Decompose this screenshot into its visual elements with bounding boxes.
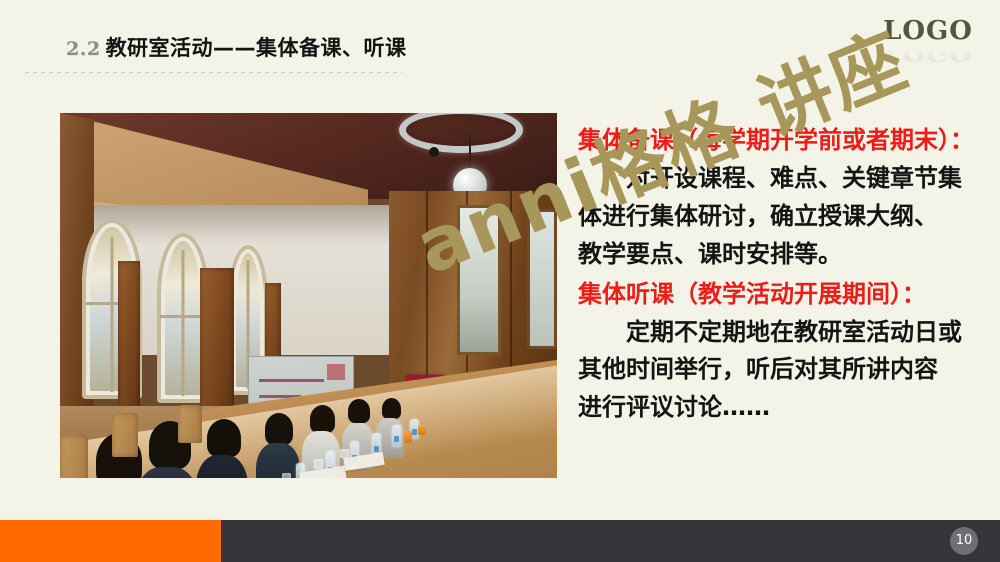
snack-item bbox=[418, 425, 426, 435]
heading-collective-lesson-prep: 集体备课（每学期开学前或者期末）： bbox=[578, 122, 988, 160]
snack-item bbox=[404, 431, 412, 443]
wood-door bbox=[200, 268, 234, 428]
person-hair bbox=[265, 413, 293, 445]
person-body bbox=[196, 455, 248, 478]
section-title-text: 教研室活动——集体备课、听课 bbox=[106, 36, 407, 60]
meeting-room-photo bbox=[60, 113, 557, 478]
title-divider bbox=[25, 72, 402, 73]
drinking-glass bbox=[314, 459, 323, 469]
attendee bbox=[196, 421, 248, 478]
section-number: 2.2 bbox=[66, 38, 101, 60]
page-number-badge: 10 bbox=[950, 527, 978, 555]
person-body bbox=[256, 443, 300, 478]
body-line: 进行评议讨论…… bbox=[578, 389, 988, 427]
person-body bbox=[134, 467, 200, 478]
person-hair bbox=[207, 419, 241, 457]
chair bbox=[60, 435, 88, 478]
attendee bbox=[256, 415, 300, 478]
right-window bbox=[527, 209, 557, 349]
chair bbox=[112, 413, 138, 457]
logo: LOGO LOGO bbox=[878, 18, 978, 70]
window-mullion-vertical bbox=[111, 237, 114, 392]
logo-reflection: LOGO bbox=[878, 47, 978, 63]
logo-text: LOGO bbox=[878, 18, 978, 44]
chair bbox=[178, 405, 202, 443]
person-hair bbox=[382, 398, 401, 419]
drinking-glass bbox=[282, 473, 291, 478]
person-hair bbox=[310, 405, 335, 433]
body-line: 教学要点、课时安排等。 bbox=[578, 236, 988, 274]
footer-accent-block bbox=[0, 520, 221, 562]
body-line: 对开设课程、难点、关键章节集 bbox=[578, 160, 988, 198]
slide-logo-mark bbox=[327, 364, 345, 380]
body-text: 集体备课（每学期开学前或者期末）： 对开设课程、难点、关键章节集 体进行集体研讨… bbox=[578, 122, 988, 429]
wood-door bbox=[118, 261, 140, 426]
paragraph-group-2: 集体听课（教学活动开展期间）： 定期不定期地在教研室活动日或 其他时间举行，听后… bbox=[578, 276, 988, 428]
person-hair bbox=[348, 399, 370, 423]
paragraph-group-1: 集体备课（每学期开学前或者期末）： 对开设课程、难点、关键章节集 体进行集体研讨… bbox=[578, 122, 988, 274]
body-line: 定期不定期地在教研室活动日或 bbox=[578, 314, 988, 352]
window-mullion-vertical bbox=[182, 250, 185, 396]
page-title: 2.2教研室活动——集体备课、听课 bbox=[66, 32, 407, 62]
slide-text-line bbox=[259, 379, 323, 382]
right-window bbox=[457, 205, 501, 355]
body-line: 体进行集体研讨，确立授课大纲、 bbox=[578, 198, 988, 236]
chandelier-small-light bbox=[429, 147, 439, 157]
body-line: 其他时间举行，听后对其所讲内容 bbox=[578, 351, 988, 389]
water-bottle bbox=[392, 425, 401, 447]
heading-collective-observation: 集体听课（教学活动开展期间）： bbox=[578, 276, 988, 314]
